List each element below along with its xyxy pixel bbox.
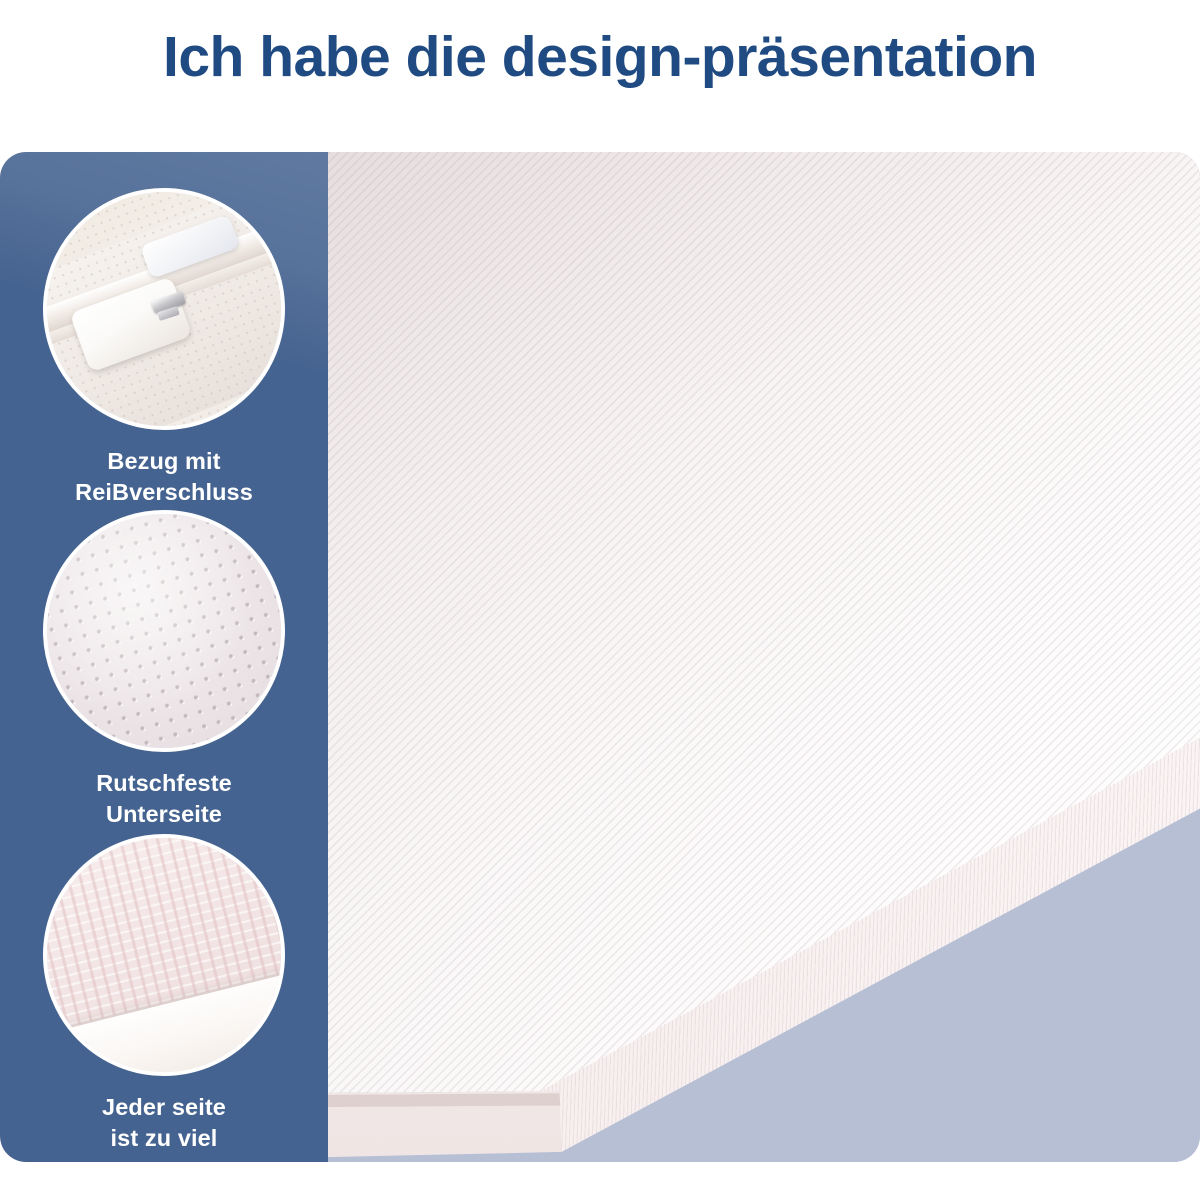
product-feature-graphic: Ich habe die design-präsentation	[0, 0, 1200, 1200]
feature-label-line2: ReiBverschluss	[0, 477, 328, 508]
feature-list: Bezug mit ReiBverschluss Rutschfeste	[0, 152, 328, 1162]
feature-item-antislip[interactable]: Rutschfeste Unterseite	[0, 510, 328, 829]
feature-label-line1: Bezug mit	[0, 446, 328, 477]
feature-item-fabric[interactable]: Jeder seite ist zu viel	[0, 834, 328, 1153]
zipper-photo-art	[47, 192, 281, 426]
feature-item-zipper[interactable]: Bezug mit ReiBverschluss	[0, 188, 328, 507]
feature-label-line1: Jeder seite	[0, 1092, 328, 1123]
anti-slip-photo-art	[47, 514, 281, 748]
feature-panel: Bezug mit ReiBverschluss Rutschfeste	[0, 152, 328, 1162]
feature-label-line1: Rutschfeste	[0, 768, 328, 799]
feature-label-line2: Unterseite	[0, 799, 328, 830]
content-card: Bezug mit ReiBverschluss Rutschfeste	[0, 152, 1200, 1162]
feature-label-line2: ist zu viel	[0, 1123, 328, 1154]
feature-label-zipper: Bezug mit ReiBverschluss	[0, 446, 328, 507]
page-title: Ich habe die design-präsentation	[0, 26, 1200, 89]
feature-label-antislip: Rutschfeste Unterseite	[0, 768, 328, 829]
anti-slip-sheen	[47, 514, 281, 748]
folded-fabric-icon	[43, 834, 285, 1076]
anti-slip-icon	[43, 510, 285, 752]
folded-fabric-photo-art	[47, 838, 281, 1072]
zipper-cover-icon	[43, 188, 285, 430]
feature-label-fabric: Jeder seite ist zu viel	[0, 1092, 328, 1153]
